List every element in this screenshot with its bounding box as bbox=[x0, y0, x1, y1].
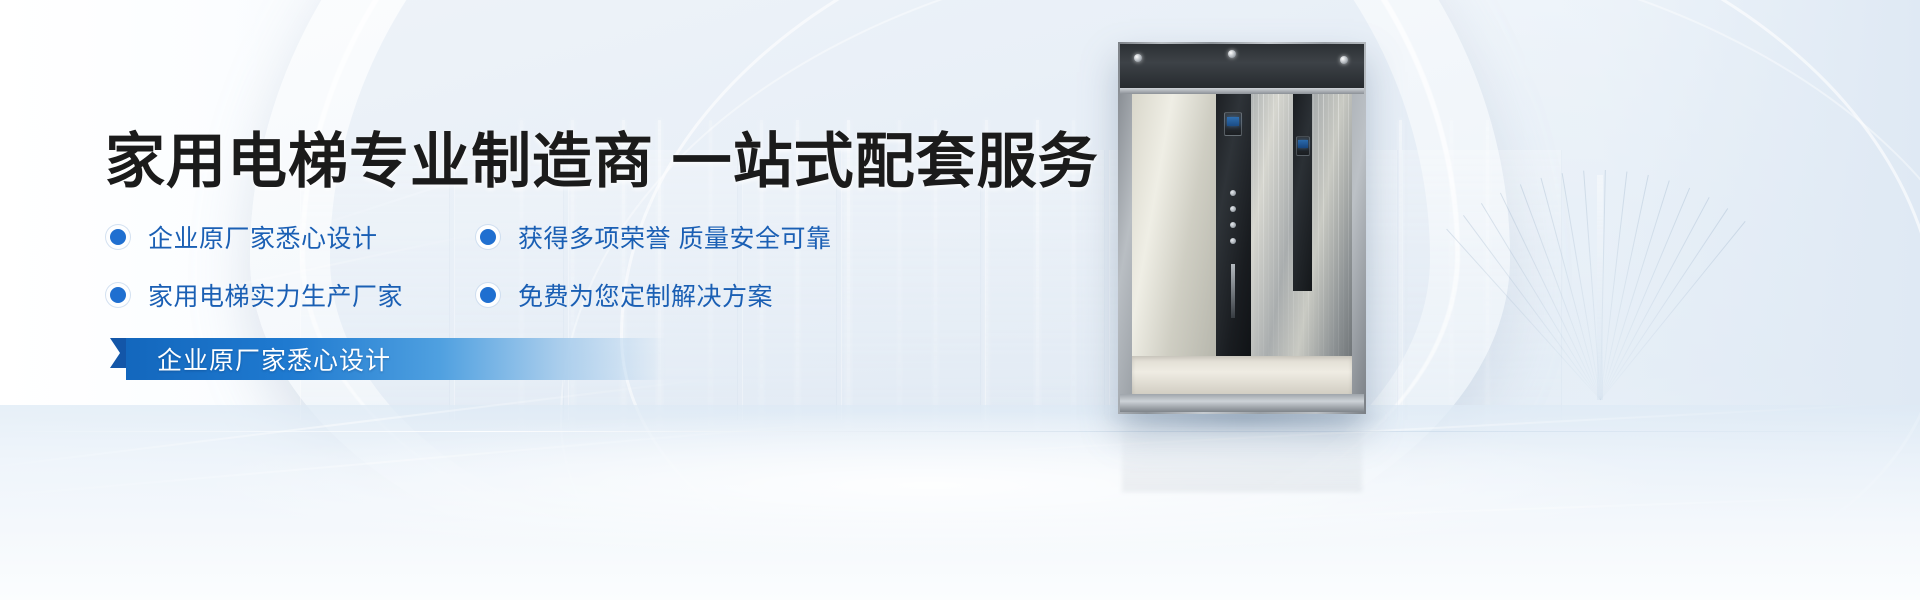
elevator-glass-rib bbox=[1323, 94, 1324, 368]
feature-item-1: 企业原厂家悉心设计 bbox=[110, 208, 480, 266]
bridge-cable bbox=[1463, 215, 1601, 400]
feature-list: 企业原厂家悉心设计 获得多项荣誉 质量安全可靠 家用电梯实力生产厂家 免费为您定… bbox=[110, 208, 870, 324]
feature-item-4-label: 免费为您定制解决方案 bbox=[518, 277, 773, 313]
elevator-control-pillar-right bbox=[1293, 94, 1313, 291]
feature-item-3-label: 家用电梯实力生产厂家 bbox=[148, 277, 403, 313]
elevator-glass-rib bbox=[1313, 94, 1314, 368]
promo-banner: 家用电梯专业制造商 一站式配套服务 企业原厂家悉心设计 获得多项荣誉 质量安全可… bbox=[0, 0, 1920, 600]
elevator-glass-rib bbox=[1263, 94, 1264, 368]
feature-item-4: 免费为您定制解决方案 bbox=[480, 266, 850, 324]
elevator-glass-rib bbox=[1338, 94, 1339, 368]
elevator-glass-rib bbox=[1253, 94, 1254, 368]
elevator-glass-rib bbox=[1268, 94, 1269, 368]
elevator-glass-rib bbox=[1333, 94, 1334, 368]
feature-item-3: 家用电梯实力生产厂家 bbox=[110, 266, 480, 324]
elevator-glass-rib bbox=[1318, 94, 1319, 368]
elevator-glass-rib bbox=[1258, 94, 1259, 368]
ceiling-light-icon bbox=[1228, 50, 1236, 58]
highlight-ribbon: 企业原厂家悉心设计 bbox=[110, 338, 670, 380]
feature-item-2: 获得多项荣誉 质量安全可靠 bbox=[480, 208, 850, 266]
bullet-dot-icon bbox=[110, 287, 126, 303]
bridge-cables bbox=[1280, 170, 1920, 400]
elevator-floor-display-secondary bbox=[1298, 140, 1308, 148]
elevator-glass-rib bbox=[1273, 94, 1274, 368]
bridge-cable bbox=[1600, 221, 1746, 400]
elevator-glass-rib bbox=[1348, 94, 1349, 368]
elevator-light-strip bbox=[1231, 264, 1235, 318]
feature-item-1-label: 企业原厂家悉心设计 bbox=[148, 219, 378, 255]
bridge-cable bbox=[1562, 173, 1601, 400]
elevator-button-icon bbox=[1230, 238, 1236, 244]
elevator-glass-rib bbox=[1343, 94, 1344, 368]
bridge-cable bbox=[1600, 175, 1649, 400]
bridge-cable bbox=[1520, 184, 1601, 400]
bridge-cable bbox=[1500, 193, 1601, 401]
elevator-floor-display bbox=[1227, 117, 1239, 126]
banner-content: 家用电梯专业制造商 一站式配套服务 企业原厂家悉心设计 获得多项荣誉 质量安全可… bbox=[100, 0, 1100, 600]
elevator-button-icon bbox=[1230, 190, 1236, 196]
home-elevator-cabin bbox=[1118, 42, 1366, 414]
bullet-dot-icon bbox=[110, 229, 126, 245]
elevator-ceiling-header bbox=[1120, 44, 1364, 92]
elevator-glass-rib bbox=[1278, 94, 1279, 368]
elevator-glass-rib bbox=[1328, 94, 1329, 368]
ceiling-light-icon bbox=[1134, 54, 1142, 62]
elevator-cab-interior bbox=[1132, 94, 1352, 368]
elevator-cab-floor bbox=[1132, 356, 1352, 396]
elevator-button-icon bbox=[1230, 206, 1236, 212]
banner-headline: 家用电梯专业制造商 一站式配套服务 bbox=[105, 113, 1099, 200]
elevator-left-wall-panel bbox=[1132, 94, 1220, 368]
ribbon-label: 企业原厂家悉心设计 bbox=[157, 341, 391, 377]
elevator-door-sill bbox=[1120, 394, 1364, 412]
bullet-dot-icon bbox=[480, 287, 496, 303]
bullet-dot-icon bbox=[480, 229, 496, 245]
elevator-floor-reflection bbox=[1122, 412, 1362, 492]
elevator-glass-rib bbox=[1288, 94, 1289, 368]
bridge-cable bbox=[1600, 188, 1690, 400]
elevator-glass-rib bbox=[1283, 94, 1284, 368]
ribbon-body: 企业原厂家悉心设计 bbox=[126, 338, 666, 380]
elevator-button-icon bbox=[1230, 222, 1236, 228]
feature-item-2-label: 获得多项荣誉 质量安全可靠 bbox=[518, 219, 831, 255]
elevator-control-pillar-left bbox=[1216, 94, 1251, 368]
ceiling-light-icon bbox=[1340, 56, 1348, 64]
